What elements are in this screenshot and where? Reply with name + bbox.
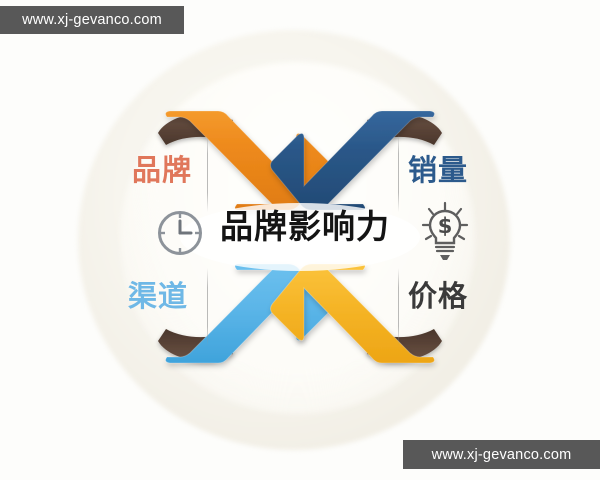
divider-bottom-left xyxy=(207,268,208,346)
divider-top-right xyxy=(398,134,399,212)
watermark-top-left: www.xj-gevanco.com xyxy=(0,6,184,34)
label-brand: 品牌 xyxy=(132,156,192,185)
divider-top-left xyxy=(207,134,208,212)
watermark-bottom-right: www.xj-gevanco.com xyxy=(403,440,600,469)
infographic-canvas: 品牌 销量 渠道 价格 xyxy=(0,0,600,480)
clock-icon xyxy=(153,206,207,260)
page-title: 品牌影响力 xyxy=(205,210,405,243)
divider-bottom-right xyxy=(398,268,399,346)
lightbulb-icon: $ xyxy=(418,200,472,264)
svg-text:$: $ xyxy=(438,214,453,238)
label-sales: 销量 xyxy=(408,156,468,185)
label-channel: 渠道 xyxy=(128,282,188,311)
label-price: 价格 xyxy=(408,282,468,311)
